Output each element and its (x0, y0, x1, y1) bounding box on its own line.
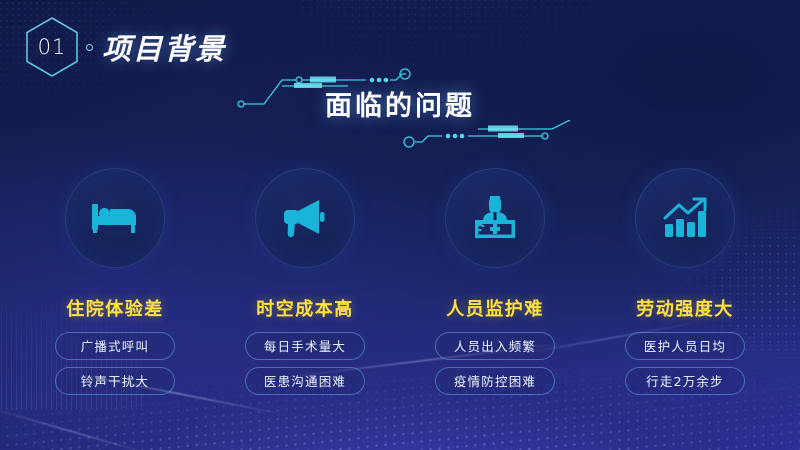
card-point-pill: 广播式呼叫 (55, 332, 175, 360)
bar-chart-growth-icon (661, 196, 709, 240)
problem-card: 时空成本高 每日手术量大 医患沟通困难 (221, 168, 389, 395)
card-points: 每日手术量大 医患沟通困难 (245, 332, 365, 395)
card-point-pill: 疫情防控困难 (435, 367, 555, 395)
card-point-pill: 医患沟通困难 (245, 367, 365, 395)
card-title: 人员监护难 (446, 295, 544, 321)
card-title: 时空成本高 (256, 295, 354, 321)
section-title: 面临的问题 (0, 84, 800, 123)
problem-card: 劳动强度大 医护人员日均 行走2万余步 (601, 168, 769, 395)
card-title: 劳动强度大 (636, 295, 734, 321)
slide-canvas: 01 项目背景 (0, 0, 800, 450)
card-points: 广播式呼叫 铃声干扰大 (55, 332, 175, 395)
nurse-station-icon (470, 194, 520, 242)
card-title: 住院体验差 (66, 295, 164, 321)
problem-card: 住院体验差 广播式呼叫 铃声干扰大 (31, 168, 199, 395)
icon-circle (255, 168, 355, 268)
card-points: 医护人员日均 行走2万余步 (625, 332, 745, 395)
card-point-pill: 铃声干扰大 (55, 367, 175, 395)
card-point-pill: 行走2万余步 (625, 367, 745, 395)
icon-circle (635, 168, 735, 268)
megaphone-icon (281, 196, 329, 240)
section-title-block: 面临的问题 (0, 62, 800, 162)
card-point-pill: 医护人员日均 (625, 332, 745, 360)
card-point-pill: 人员出入频繁 (435, 332, 555, 360)
problem-card: 人员监护难 人员出入频繁 疫情防控困难 (411, 168, 579, 395)
card-points: 人员出入频繁 疫情防控困难 (435, 332, 555, 395)
icon-circle (445, 168, 545, 268)
circuit-line-right-icon (402, 120, 578, 164)
section-number-text: 01 (38, 35, 67, 59)
small-circle-icon (86, 44, 93, 51)
problem-card-list: 住院体验差 广播式呼叫 铃声干扰大 时空成本高 每日手 (0, 168, 800, 395)
icon-circle (65, 168, 165, 268)
hospital-bed-icon (90, 198, 140, 238)
card-point-pill: 每日手术量大 (245, 332, 365, 360)
